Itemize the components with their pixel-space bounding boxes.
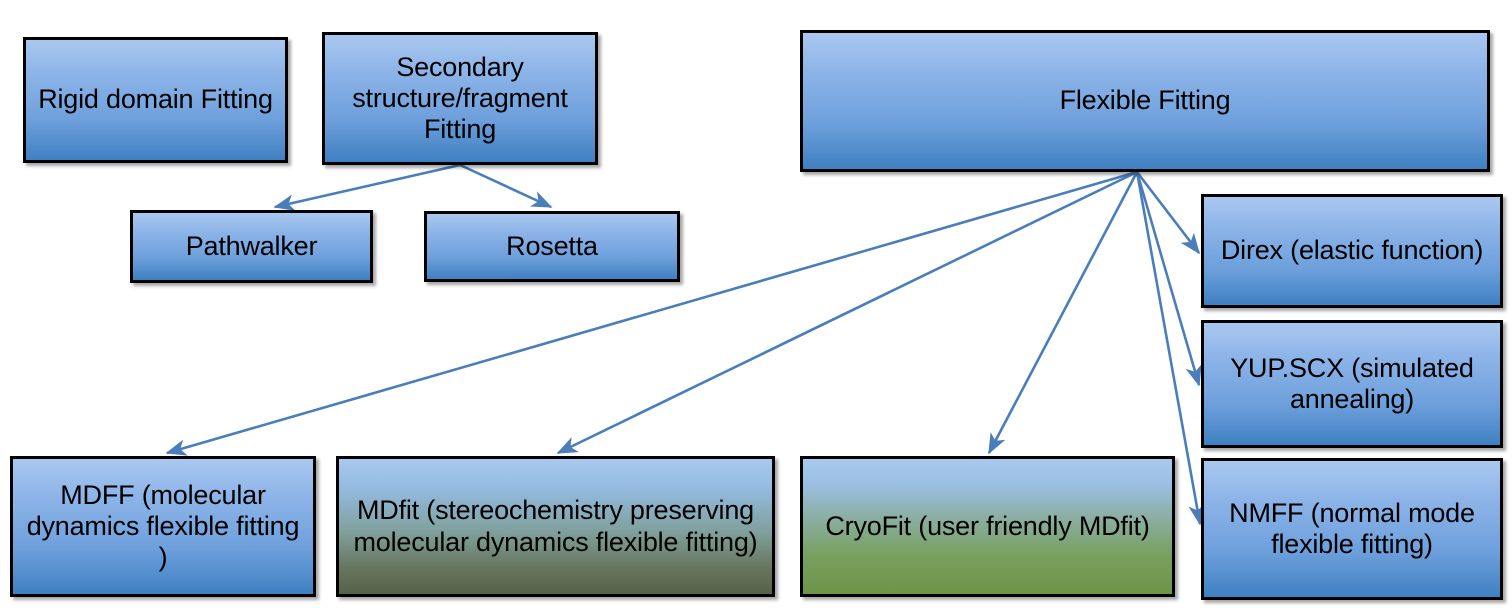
node-label: Rosetta: [506, 231, 598, 262]
node-label: Flexible Fitting: [1060, 85, 1231, 116]
node-rosetta[interactable]: Rosetta: [424, 211, 680, 282]
node-nmff[interactable]: NMFF (normal mode flexible fitting): [1201, 458, 1503, 600]
node-label: Secondary structure/fragment Fitting: [333, 52, 587, 146]
node-mdfit[interactable]: MDfit (stereochemistry preserving molecu…: [336, 456, 775, 597]
node-label: NMFF (normal mode flexible fitting): [1212, 498, 1492, 561]
edge-flexible-to-direx: [1137, 172, 1199, 253]
node-label: Rigid domain Fitting: [38, 84, 273, 115]
node-rigid-domain-fitting[interactable]: Rigid domain Fitting: [23, 37, 288, 163]
node-secondary-structure-fitting[interactable]: Secondary structure/fragment Fitting: [322, 32, 598, 165]
node-label: Pathwalker: [186, 231, 318, 262]
edge-flexible-to-cryofit: [989, 172, 1137, 453]
node-flexible-fitting[interactable]: Flexible Fitting: [800, 30, 1490, 172]
diagram-canvas: Rigid domain Fitting Secondary structure…: [0, 0, 1512, 610]
node-pathwalker[interactable]: Pathwalker: [130, 210, 373, 283]
node-label: MDFF (molecular dynamics flexible fittin…: [21, 480, 305, 574]
node-direx[interactable]: Direx (elastic function): [1201, 194, 1503, 308]
node-mdff[interactable]: MDFF (molecular dynamics flexible fittin…: [10, 456, 316, 597]
node-yup-scx[interactable]: YUP.SCX (simulated annealing): [1201, 320, 1503, 448]
node-cryofit[interactable]: CryoFit (user friendly MDfit): [800, 456, 1175, 597]
node-label: CryoFit (user friendly MDfit): [825, 511, 1149, 542]
node-label: MDfit (stereochemistry preserving molecu…: [347, 495, 764, 558]
node-label: YUP.SCX (simulated annealing): [1212, 353, 1492, 416]
edge-secondary-to-pathwalker: [275, 165, 460, 207]
edge-flexible-to-yupscx: [1137, 172, 1199, 385]
node-label: Direx (elastic function): [1221, 235, 1483, 266]
edge-secondary-to-rosetta: [460, 165, 551, 207]
